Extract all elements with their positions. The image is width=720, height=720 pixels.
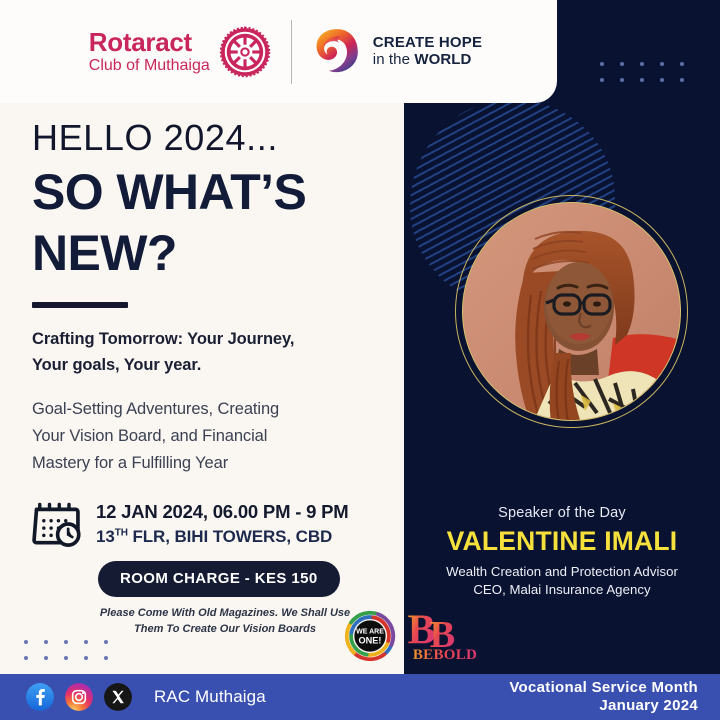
- speaker-portrait-frame: [455, 195, 688, 428]
- venue-address: FLR, BIHI TOWERS, CBD: [128, 527, 332, 546]
- we-are-one-badge: WE ARE ONE!: [343, 609, 397, 663]
- social-handle: RAC Muthaiga: [154, 687, 266, 707]
- speaker-role-line2: CEO, Malai Insurance Agency: [404, 582, 720, 597]
- calendar-clock-icon: [30, 498, 82, 550]
- description-line2: Your Vision Board, and Financial: [32, 423, 362, 450]
- headline-kicker: HELLO 2024...: [32, 118, 306, 158]
- footer-bar: RAC Muthaiga Vocational Service Month Ja…: [0, 674, 720, 720]
- create-hope-lockup: CREATE HOPE in the WORLD: [310, 26, 482, 78]
- headline-underline-rule: [32, 302, 128, 308]
- room-charge-badge: ROOM CHARGE - KES 150: [98, 561, 340, 597]
- speaker-info-block: Speaker of the Day VALENTINE IMALI Wealt…: [404, 505, 720, 597]
- social-links-group: RAC Muthaiga: [26, 683, 266, 711]
- venue-floor-number: 13: [96, 527, 115, 546]
- facebook-icon[interactable]: [26, 683, 54, 711]
- create-hope-wordmark: CREATE HOPE in the WORLD: [373, 35, 482, 69]
- event-details-block: 12 JAN 2024, 06.00 PM - 9 PM 13TH FLR, B…: [30, 498, 380, 638]
- description-paragraph: Goal-Setting Adventures, Creating Your V…: [32, 396, 362, 476]
- footer-campaign-line2: January 2024: [509, 697, 698, 715]
- tagline-line2: Your goals, Your year.: [32, 353, 362, 379]
- tagline-line1: Crafting Tomorrow: Your Journey,: [32, 327, 362, 353]
- event-note-line1: Please Come With Old Magazines. We Shall: [100, 607, 327, 619]
- portrait-ring-inner: [462, 202, 681, 421]
- bebold-logo: B B BEBOLD: [403, 607, 487, 664]
- instagram-icon[interactable]: [65, 683, 93, 711]
- footer-campaign-line1: Vocational Service Month: [509, 679, 698, 697]
- event-datetime: 12 JAN 2024, 06.00 PM - 9 PM: [96, 501, 349, 523]
- create-hope-line2-bold: WORLD: [414, 51, 471, 68]
- rotaract-lockup: Rotaract Club of Muthaiga: [75, 26, 271, 78]
- speaker-name: VALENTINE IMALI: [404, 528, 720, 556]
- body-copy-block: Crafting Tomorrow: Your Journey, Your go…: [32, 327, 362, 476]
- create-hope-line1: CREATE HOPE: [373, 35, 482, 52]
- dot-grid-top-right: [600, 62, 684, 82]
- speaker-role-line1: Wealth Creation and Protection Advisor: [404, 564, 720, 579]
- we-are-one-badge-icon: WE ARE ONE!: [343, 609, 397, 663]
- headline-line1: SO WHAT’S: [32, 166, 306, 219]
- rotaract-club-name: Club of Muthaiga: [89, 58, 210, 74]
- description-line1: Goal-Setting Adventures, Creating: [32, 396, 362, 423]
- we-are-one-line2: ONE!: [359, 636, 382, 646]
- footer-campaign: Vocational Service Month January 2024: [509, 679, 706, 716]
- bebold-wordmark: BEBOLD: [403, 647, 487, 664]
- speaker-label: Speaker of the Day: [404, 505, 720, 521]
- logo-divider: [291, 20, 292, 84]
- tagline-paragraph: Crafting Tomorrow: Your Journey, Your go…: [32, 327, 362, 378]
- dot-grid-bottom-left: [24, 640, 108, 660]
- headline-line2: NEW?: [32, 227, 306, 280]
- event-note: Please Come With Old Magazines. We Shall…: [90, 606, 360, 638]
- description-line3: Mastery for a Fulfilling Year: [32, 450, 362, 477]
- svg-text:B: B: [429, 614, 455, 649]
- create-hope-line2: in the WORLD: [373, 52, 482, 69]
- venue-ordinal: TH: [115, 527, 128, 538]
- create-hope-line2-prefix: in the: [373, 51, 415, 68]
- brand-logo-card: Rotaract Club of Muthaiga: [0, 0, 557, 103]
- speaker-portrait-image: [463, 203, 680, 420]
- headline-block: HELLO 2024... SO WHAT’S NEW?: [32, 118, 306, 308]
- rotaract-title: Rotaract: [89, 29, 210, 55]
- event-text-lines: 12 JAN 2024, 06.00 PM - 9 PM 13TH FLR, B…: [96, 501, 349, 548]
- bebold-logo-icon: B B: [404, 607, 486, 649]
- poster-canvas: Rotaract Club of Muthaiga: [0, 0, 720, 720]
- rotary-wheel-icon: [219, 26, 271, 78]
- twitter-x-icon[interactable]: [104, 683, 132, 711]
- create-hope-swirl-icon: [310, 26, 362, 78]
- rotaract-wordmark: Rotaract Club of Muthaiga: [89, 29, 210, 74]
- event-venue: 13TH FLR, BIHI TOWERS, CBD: [96, 527, 349, 547]
- event-datetime-row: 12 JAN 2024, 06.00 PM - 9 PM 13TH FLR, B…: [30, 498, 380, 550]
- we-are-one-line1: WE ARE: [356, 628, 384, 635]
